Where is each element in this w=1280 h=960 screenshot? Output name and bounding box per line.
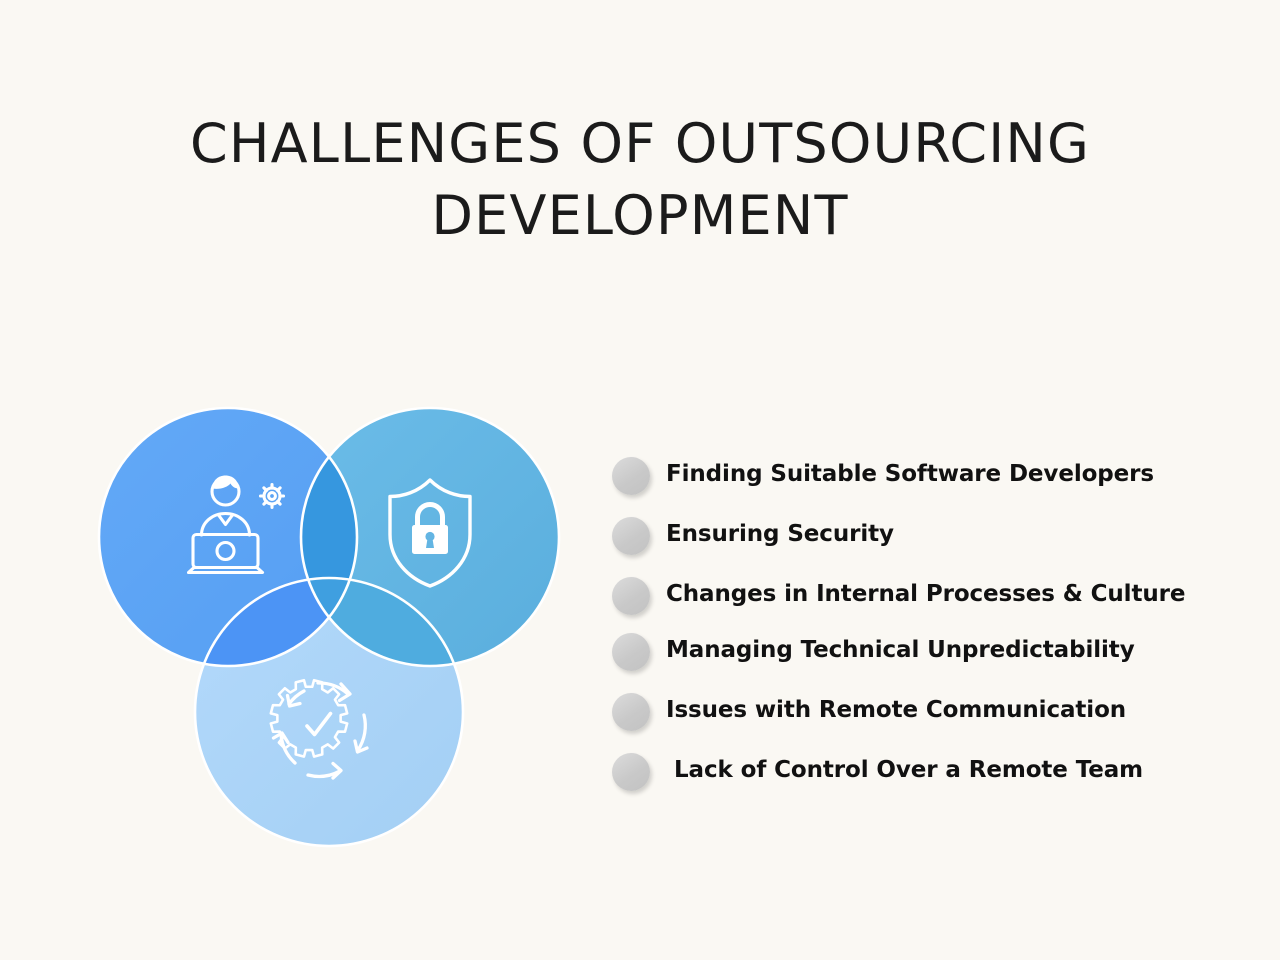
list-item-label: Issues with Remote Communication	[650, 691, 1126, 725]
list-item-label: Lack of Control Over a Remote Team	[650, 751, 1143, 785]
bullet-circle-icon	[612, 457, 650, 495]
list-item-label: Finding Suitable Software Developers	[650, 455, 1154, 489]
venn-diagram	[80, 400, 600, 870]
page-title-line-1: CHALLENGES OF OUTSOURCING	[0, 108, 1280, 180]
page-title-line-2: DEVELOPMENT	[0, 180, 1280, 252]
list-item: Managing Technical Unpredictability	[612, 631, 1212, 673]
venn-diagram-svg	[80, 400, 600, 870]
bullet-circle-icon	[612, 753, 650, 791]
list-item-label: Ensuring Security	[650, 515, 894, 549]
list-item: Finding Suitable Software Developers	[612, 455, 1212, 497]
bullet-circle-icon	[612, 633, 650, 671]
list-item: Ensuring Security	[612, 515, 1212, 557]
page-title: CHALLENGES OF OUTSOURCING DEVELOPMENT	[0, 108, 1280, 252]
list-item: Lack of Control Over a Remote Team	[612, 751, 1212, 793]
list-item: Changes in Internal Processes & Culture	[612, 575, 1212, 617]
bullet-circle-icon	[612, 693, 650, 731]
slide-canvas: CHALLENGES OF OUTSOURCING DEVELOPMENT	[0, 0, 1280, 960]
list-item-label: Changes in Internal Processes & Culture	[650, 575, 1185, 609]
list-item-label: Managing Technical Unpredictability	[650, 631, 1135, 665]
challenges-list: Finding Suitable Software Developers Ens…	[612, 455, 1212, 811]
bullet-circle-icon	[612, 517, 650, 555]
bullet-circle-icon	[612, 577, 650, 615]
list-item: Issues with Remote Communication	[612, 691, 1212, 733]
